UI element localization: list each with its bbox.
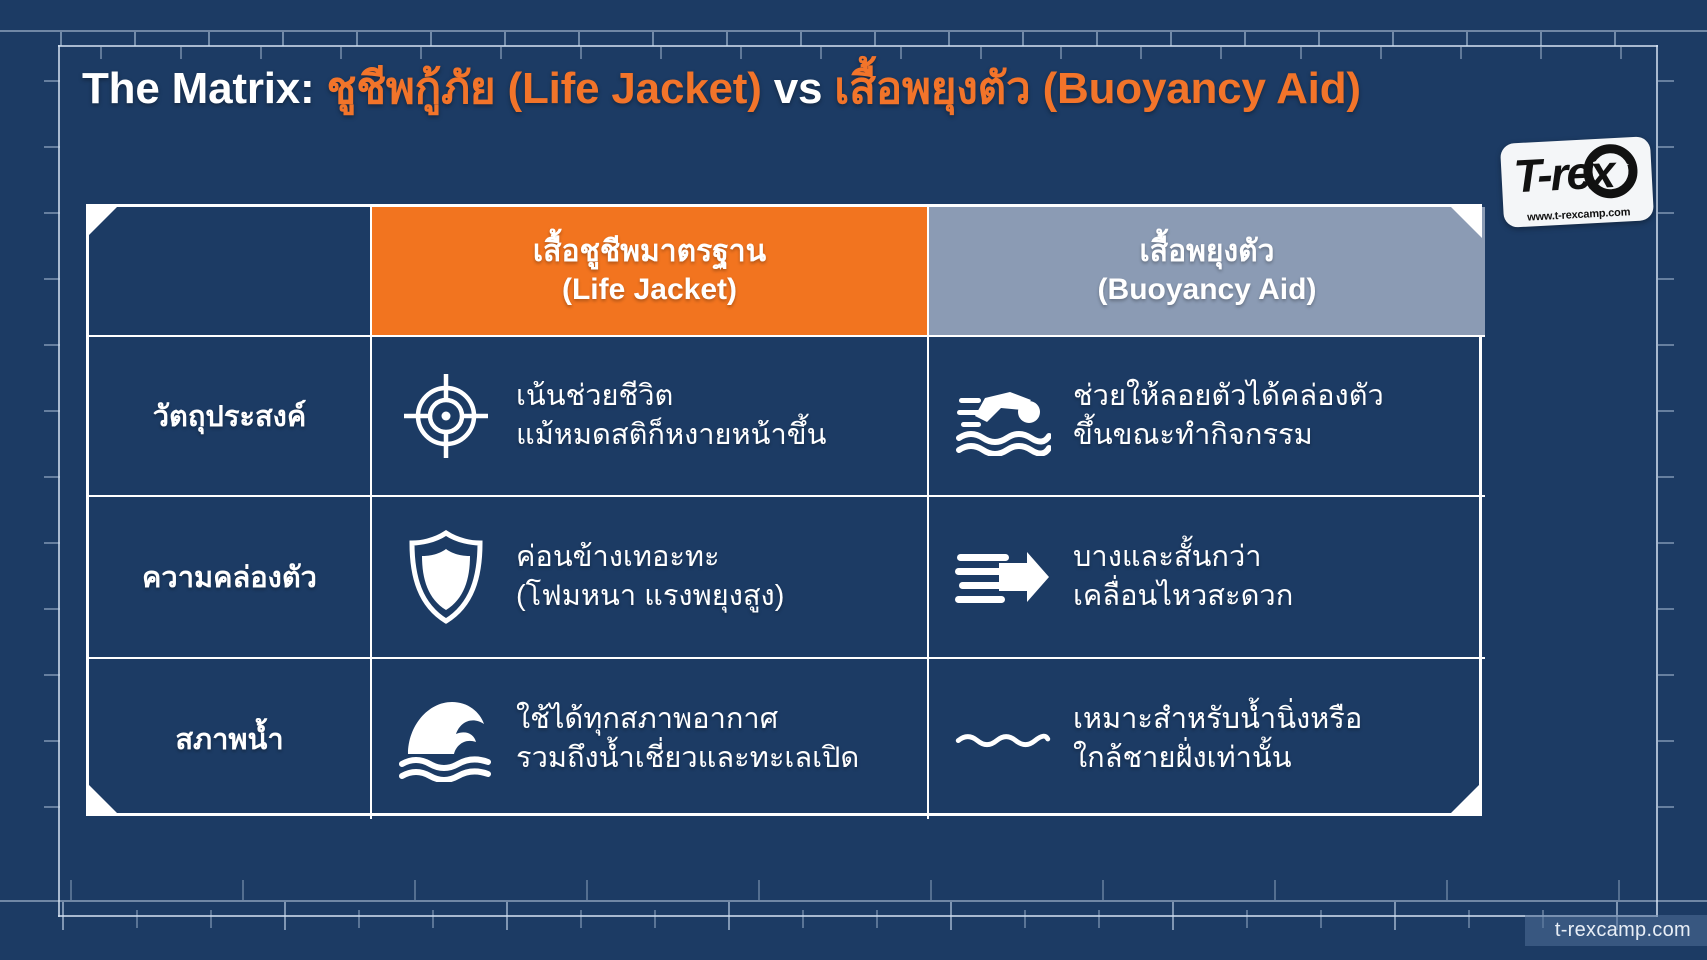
table-header-buoyancy-aid: เสื้อพยุงตัว (Buoyancy Aid) — [929, 207, 1485, 337]
comparison-matrix-table: เสื้อชูชีพมาตรฐาน (Life Jacket) เสื้อพยุ… — [86, 204, 1482, 816]
table-cell-mobility-buoyancyaid-text: บางและสั้นกว่า เคลื่อนไหวสะดวก — [1073, 538, 1293, 616]
swimmer-icon — [955, 368, 1051, 464]
page-title: The Matrix: ชูชีพกู้ภัย (Life Jacket) vs… — [82, 62, 1462, 116]
wave-icon — [398, 691, 494, 787]
logo-wordmark: T-rex — [1512, 148, 1614, 199]
table-cell-water-buoyancyaid-text: เหมาะสำหรับน้ำนิ่งหรือ ใกล้ชายฝั่งเท่านั… — [1073, 700, 1362, 778]
table-cell-mobility-lifejacket-text: ค่อนข้างเทอะทะ (โฟมหนา แรงพยุงสูง) — [516, 538, 784, 616]
table-cell-water-lifejacket-text: ใช้ได้ทุกสภาพอากาศ รวมถึงน้ำเชี่ยวและทะเ… — [516, 700, 859, 778]
frame-outer-top-line — [0, 30, 1707, 32]
infographic-canvas: The Matrix: ชูชีพกู้ภัย (Life Jacket) vs… — [0, 0, 1707, 960]
table-corner-notch-top-right — [1448, 204, 1482, 238]
title-prefix: The Matrix: — [82, 64, 327, 113]
title-highlight-lifejacket: ชูชีพกู้ภัย (Life Jacket) — [327, 64, 762, 113]
frame-right-line — [1656, 45, 1658, 917]
table-row-label-purpose: วัตถุประสงค์ — [89, 337, 372, 497]
shield-icon — [398, 529, 494, 625]
table-cell-purpose-lifejacket: เน้นช่วยชีวิต แม้หมดสติก็หงายหน้าขึ้น — [372, 337, 929, 497]
target-crosshair-icon — [398, 368, 494, 464]
table-row-label-water-condition: สภาพน้ำ — [89, 659, 372, 819]
table-corner-notch-bottom-right — [1448, 782, 1482, 816]
frame-top-line — [58, 45, 1658, 47]
table-header-life-jacket: เสื้อชูชีพมาตรฐาน (Life Jacket) — [372, 207, 929, 337]
frame-outer-bottom-line — [0, 900, 1707, 902]
table-corner-notch-bottom-left — [86, 782, 120, 816]
table-cell-purpose-buoyancyaid-text: ช่วยให้ลอยตัวได้คล่องตัว ขึ้นขณะทำกิจกรร… — [1073, 377, 1384, 455]
table-row-label-mobility: ความคล่องตัว — [89, 497, 372, 659]
logo-url: www.t-rexcamp.com — [1504, 205, 1654, 225]
title-middle: vs — [762, 64, 835, 113]
table-cell-water-buoyancyaid: เหมาะสำหรับน้ำนิ่งหรือ ใกล้ชายฝั่งเท่านั… — [929, 659, 1485, 819]
table-header-buoyancy-aid-label: เสื้อพยุงตัว (Buoyancy Aid) — [1098, 233, 1317, 310]
table-cell-purpose-buoyancyaid: ช่วยให้ลอยตัวได้คล่องตัว ขึ้นขณะทำกิจกรร… — [929, 337, 1485, 497]
calm-water-icon — [955, 691, 1051, 787]
table-header-blank — [89, 207, 372, 337]
table-header-life-jacket-label: เสื้อชูชีพมาตรฐาน (Life Jacket) — [533, 233, 766, 310]
frame-bottom-line — [58, 915, 1658, 917]
table-cell-purpose-lifejacket-text: เน้นช่วยชีวิต แม้หมดสติก็หงายหน้าขึ้น — [516, 377, 826, 455]
table-corner-notch-top-left — [86, 204, 120, 238]
title-highlight-buoyancyaid: เสื้อพยุงตัว (Buoyancy Aid) — [834, 64, 1361, 113]
frame-left-line — [58, 45, 60, 917]
table-cell-mobility-buoyancyaid: บางและสั้นกว่า เคลื่อนไหวสะดวก — [929, 497, 1485, 659]
t-rex-logo[interactable]: T-rex www.t-rexcamp.com — [1500, 136, 1654, 228]
table-cell-water-lifejacket: ใช้ได้ทุกสภาพอากาศ รวมถึงน้ำเชี่ยวและทะเ… — [372, 659, 929, 819]
table-cell-mobility-lifejacket: ค่อนข้างเทอะทะ (โฟมหนา แรงพยุงสูง) — [372, 497, 929, 659]
speed-arrow-icon — [955, 529, 1051, 625]
watermark: t-rexcamp.com — [1525, 915, 1707, 946]
